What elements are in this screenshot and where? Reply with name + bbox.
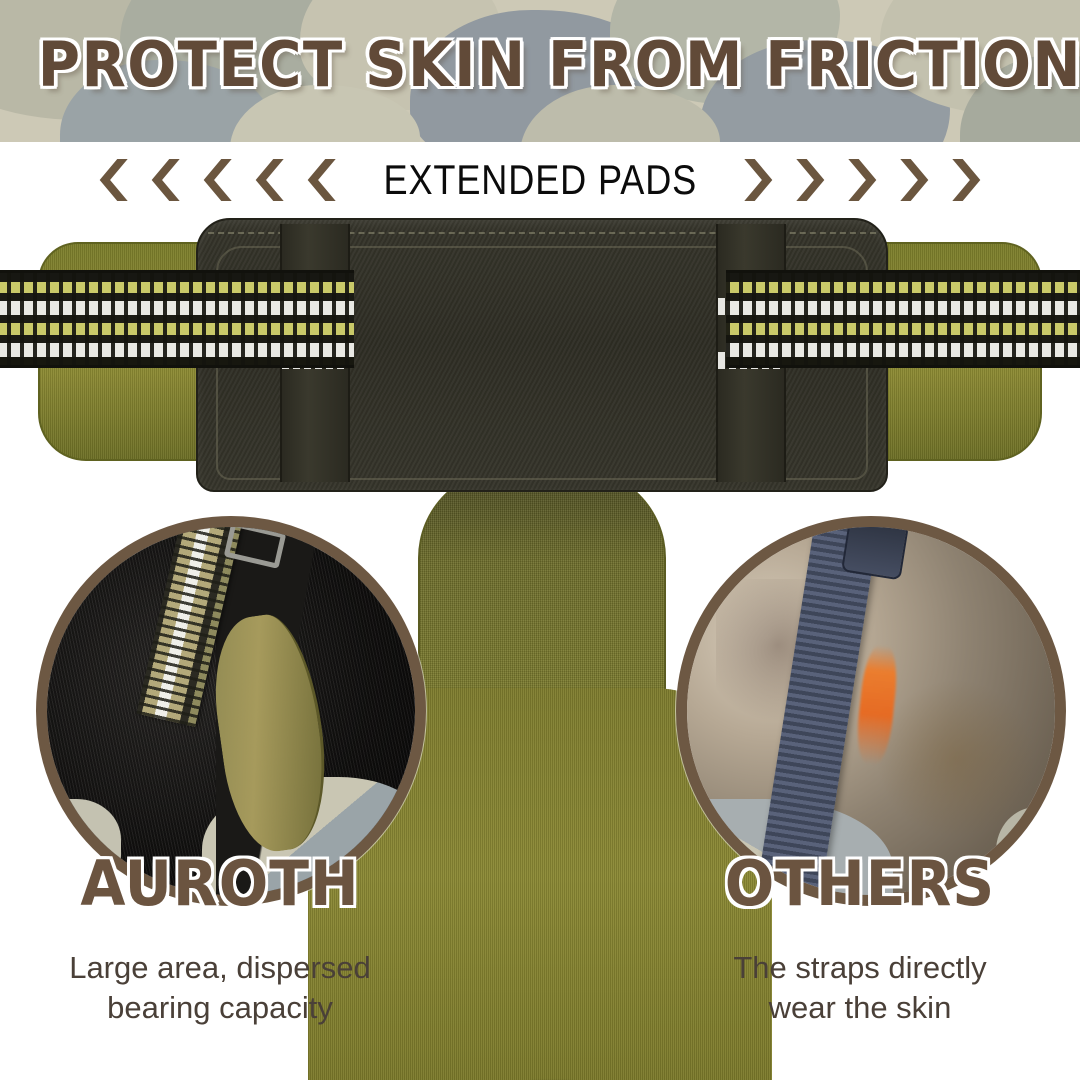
chevron-left-icon [296, 159, 336, 201]
infographic-page: PROTECT SKIN FROM FRICTION EXTENDED PADS [0, 0, 1080, 1080]
chevron-right-icon [848, 159, 888, 201]
chevron-left-icon [192, 159, 232, 201]
reflective-webbing-strap-left [0, 270, 354, 368]
chevron-right-icon [952, 159, 992, 201]
chevron-left-icon [88, 159, 128, 201]
right-chevron-group [738, 159, 998, 201]
left-chevron-group [82, 159, 342, 201]
others-photo [687, 527, 1055, 895]
strap-clip-icon [841, 516, 909, 580]
caption-auroth-line1: Large area, dispersed [10, 948, 430, 988]
extended-pads-label: EXTENDED PADS [369, 156, 710, 204]
chevron-left-icon [140, 159, 180, 201]
caption-others-line2: wear the skin [650, 988, 1070, 1028]
caption-others-line1: The straps directly [650, 948, 1070, 988]
chevron-right-icon [900, 159, 940, 201]
brand-label-others: OTHERS [663, 852, 1058, 916]
extended-pads-bar: EXTENDED PADS [0, 142, 1080, 218]
page-title: PROTECT SKIN FROM FRICTION [38, 26, 1042, 104]
header-banner: PROTECT SKIN FROM FRICTION [0, 0, 1080, 142]
chevron-right-icon [744, 159, 784, 201]
caption-auroth: Large area, dispersed bearing capacity [10, 948, 430, 1028]
caption-others: The straps directly wear the skin [650, 948, 1070, 1028]
chevron-right-icon [796, 159, 836, 201]
brand-label-auroth: AUROTH [23, 852, 418, 916]
auroth-photo [47, 527, 415, 895]
caption-auroth-line2: bearing capacity [10, 988, 430, 1028]
chevron-left-icon [244, 159, 284, 201]
reflective-webbing-strap-right [726, 270, 1080, 368]
